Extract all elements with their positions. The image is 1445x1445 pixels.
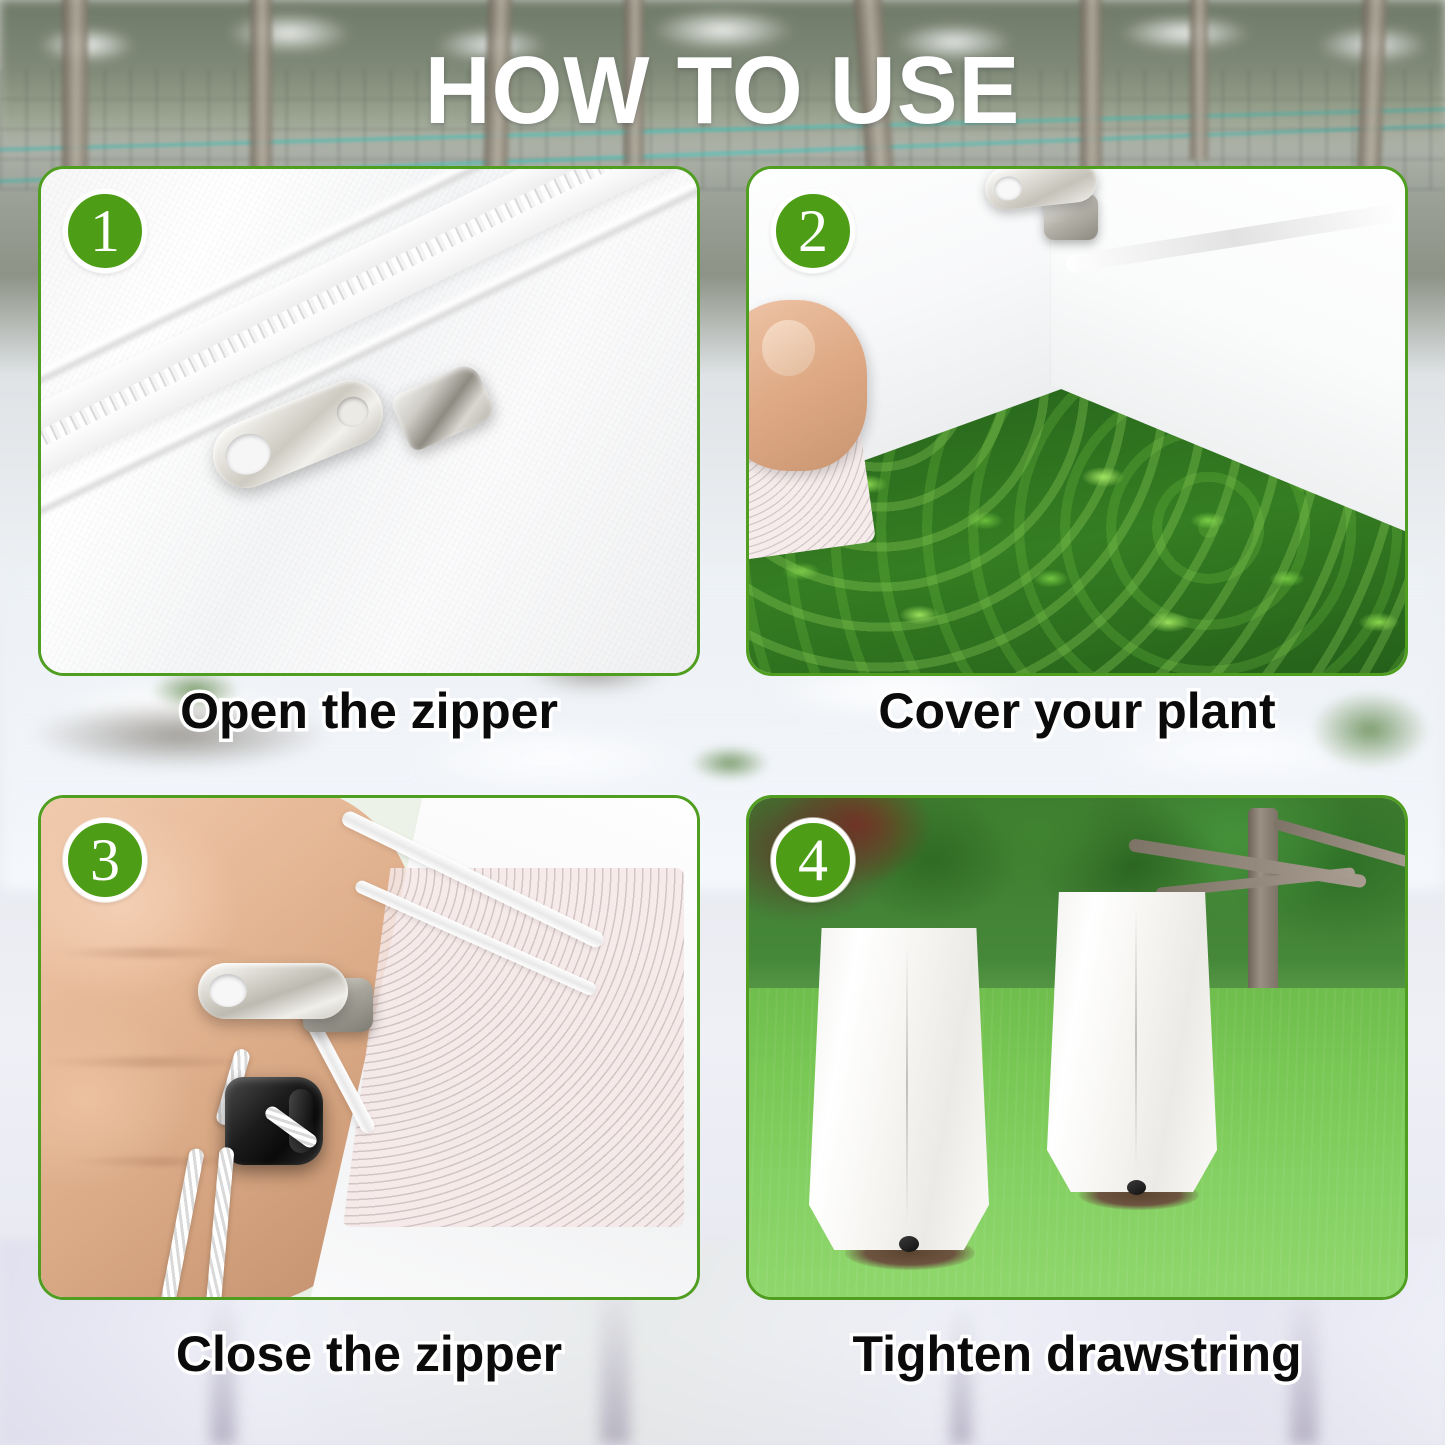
infographic-canvas: HOW TO USE 1 Open the zipper — [0, 0, 1445, 1445]
step-number-badge-3: 3 — [63, 818, 147, 902]
zipper-pull-tab — [198, 963, 348, 1019]
step-number-badge-1: 1 — [63, 189, 147, 273]
step-panel-1: 1 — [38, 166, 700, 676]
plant-cover-2-drawstring-knot — [1127, 1180, 1146, 1195]
plant-cover-2-seam — [1135, 910, 1137, 1168]
step-number-badge-4: 4 — [771, 818, 855, 902]
plant-cover-1-seam — [906, 947, 908, 1224]
page-title: HOW TO USE — [36, 36, 1409, 146]
step-caption-3: Close the zipper — [38, 1325, 700, 1383]
background-foliage-2 — [690, 745, 770, 781]
mesh-fabric-area — [343, 868, 684, 1227]
hand — [749, 300, 867, 471]
step-panel-3: 3 — [38, 795, 700, 1300]
plant-cover-1 — [809, 928, 989, 1250]
step-caption-1: Open the zipper — [38, 682, 700, 740]
step-panel-2: 2 — [746, 166, 1408, 676]
thumbnail — [762, 320, 814, 375]
step-panel-4: 4 — [746, 795, 1408, 1300]
step-caption-2: Cover your plant — [746, 682, 1408, 740]
plant-cover-1-drawstring-knot — [899, 1236, 919, 1252]
step-number-badge-2: 2 — [771, 189, 855, 273]
finger-crease-1 — [54, 948, 251, 958]
step-caption-4: Tighten drawstring — [746, 1325, 1408, 1383]
plant-cover-2 — [1047, 892, 1217, 1192]
